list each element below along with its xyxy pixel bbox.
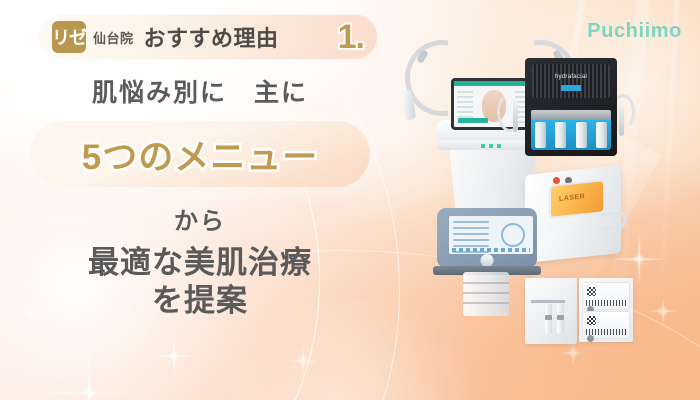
box-label-text (531, 300, 565, 303)
clinic-name-label: 仙台院 (93, 28, 134, 47)
product-box-left (525, 278, 577, 344)
card-dot (587, 335, 594, 342)
ampoule (545, 304, 552, 334)
hydra-vial-rack (535, 122, 607, 148)
sparkle-icon (288, 346, 318, 376)
promo-banner-canvas: リゼ 仙台院 おすすめ理由 1. Puchiimo 肌悩み別に 主に 5つのメニ… (0, 0, 700, 400)
console-head (437, 208, 537, 268)
menu-highlight-text: 5つのメニュー (82, 129, 318, 180)
hydra-grille (532, 64, 610, 98)
product-card (583, 283, 629, 309)
console-screen (449, 216, 533, 254)
reason-number: 1. (338, 20, 364, 54)
product-box-right (579, 278, 633, 342)
hydra-accent-chip (561, 85, 581, 91)
hydra-vial (596, 122, 607, 148)
status-leds (481, 144, 505, 148)
copy-line-2: から (0, 201, 400, 236)
hydrafacial-device: hydrafacial (525, 58, 617, 156)
screen-header-bar (454, 81, 534, 86)
product-card (583, 312, 629, 338)
hydra-vial (555, 122, 566, 148)
hydra-brand-text: hydrafacial (525, 74, 617, 80)
copy-line-4: を提案 (0, 282, 400, 320)
device-image-cluster: hydrafacial LASER (385, 28, 700, 358)
hydra-vial (576, 122, 587, 148)
hydra-probe-left (513, 98, 518, 132)
copy-block: 肌悩み別に 主に 5つのメニュー から 最適な美肌治療 を提案 (0, 78, 400, 320)
qr-code-icon (587, 316, 596, 325)
rize-logo-badge: リゼ (52, 21, 86, 53)
power-button-red (553, 177, 560, 184)
unit-handle (601, 211, 627, 231)
copy-line-3: 最適な美肌治療 (0, 244, 400, 282)
menu-highlight-pill: 5つのメニュー (30, 121, 370, 187)
sparkle-icon (46, 350, 132, 400)
barcode-icon (586, 300, 626, 306)
orange-panel-text: LASER (559, 193, 585, 203)
barcode-icon (586, 329, 626, 335)
console-column (463, 272, 509, 316)
hydra-cord-left (497, 92, 523, 132)
product-packaging-boxes (525, 274, 635, 348)
recommend-reason-label: おすすめ理由 (144, 21, 279, 53)
header-banner: リゼ 仙台院 おすすめ理由 1. (38, 14, 378, 60)
hydra-probe-right (619, 102, 624, 136)
console-dial-icon (501, 223, 525, 247)
console-toolbar (452, 248, 530, 252)
ampoule (557, 304, 564, 334)
qr-code-icon (587, 287, 596, 296)
orange-display-panel: LASER (551, 181, 603, 216)
copy-line-1: 肌悩み別に 主に (0, 78, 400, 109)
control-button-grey (565, 177, 572, 184)
screen-progress-bar (458, 118, 488, 123)
sparkle-icon (152, 334, 196, 378)
hydra-vial (535, 122, 546, 148)
